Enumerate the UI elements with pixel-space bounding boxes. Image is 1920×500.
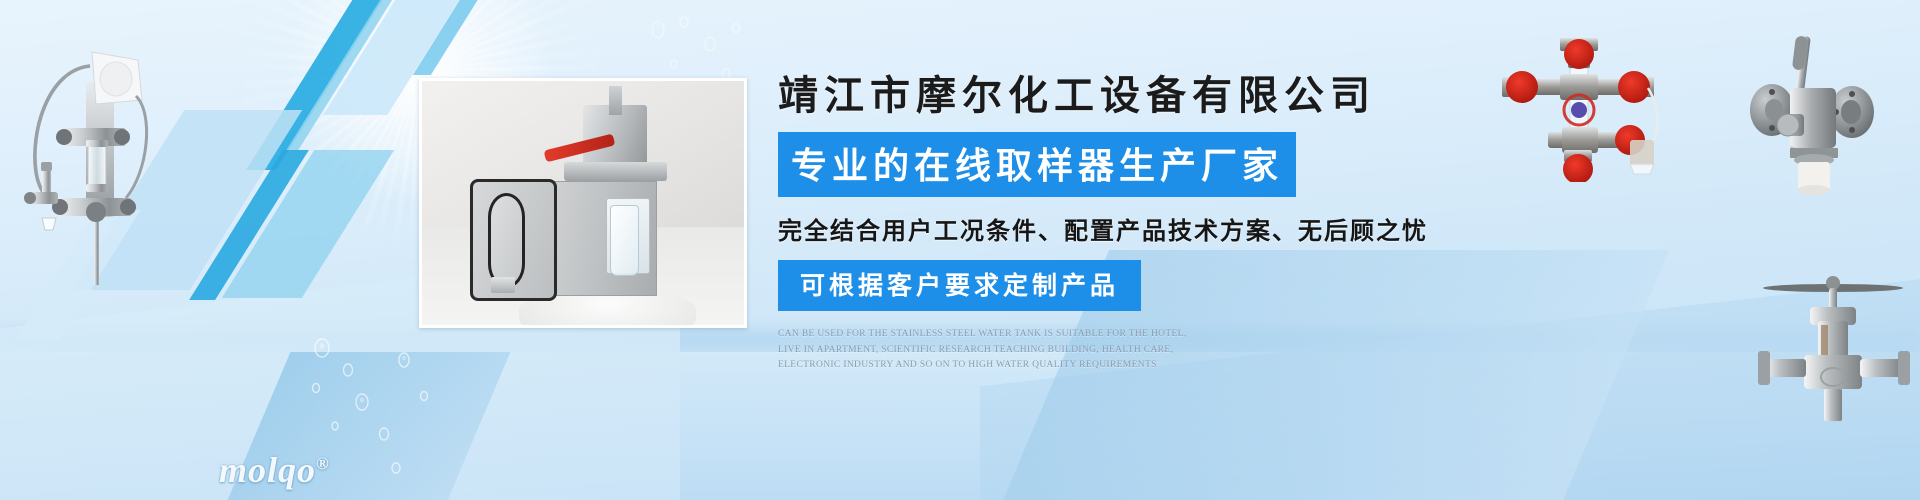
watermark-text: molqo bbox=[219, 450, 316, 490]
cta-highlight: 可根据客户要求定制产品 bbox=[778, 260, 1141, 311]
subline-text: 完全结合用户工况条件、配置产品技术方案、无后顾之忧 bbox=[778, 211, 1868, 246]
panel-mounted-sampler-render bbox=[8, 22, 168, 287]
promotional-banner: 靖江市摩尔化工设备有限公司 专业的在线取样器生产厂家 完全结合用户工况条件、配置… bbox=[0, 0, 1920, 500]
fineprint-description: CAN BE USED FOR THE STAINLESS STEEL WATE… bbox=[778, 327, 1198, 374]
banner-text-column: 靖江市摩尔化工设备有限公司 专业的在线取样器生产厂家 完全结合用户工况条件、配置… bbox=[778, 74, 1868, 374]
watermark-logo: molqo® bbox=[219, 449, 330, 491]
center-product-photo bbox=[419, 78, 747, 328]
company-name: 靖江市摩尔化工设备有限公司 bbox=[778, 74, 1868, 118]
registered-trademark-icon: ® bbox=[316, 454, 330, 473]
headline-highlight: 专业的在线取样器生产厂家 bbox=[778, 132, 1296, 197]
